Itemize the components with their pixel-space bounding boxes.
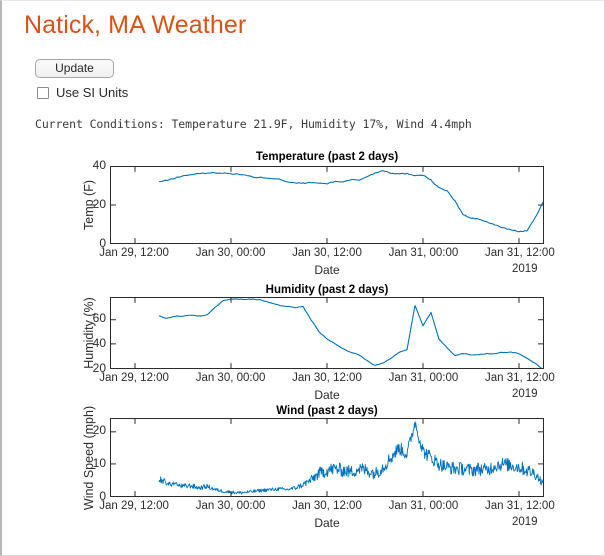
x-tick-label: Jan 31, 12:00 [485, 372, 555, 384]
plot-area-humidity[interactable] [110, 297, 544, 369]
plot-area-wind[interactable] [110, 418, 544, 497]
series-line-temperature [159, 171, 543, 232]
year-label-humidity: 2019 [512, 388, 538, 400]
x-tick-label: Jan 30, 12:00 [292, 500, 362, 512]
x-tick-label: Jan 30, 00:00 [196, 500, 266, 512]
x-tick-label: Jan 31, 12:00 [485, 247, 555, 259]
x-tick-label: Jan 30, 00:00 [196, 247, 266, 259]
x-axis-label-temperature: Date [110, 263, 544, 277]
x-tick-label: Jan 31, 00:00 [389, 372, 459, 384]
x-axis-label-humidity: Date [110, 388, 544, 402]
chart-title-wind: Wind (past 2 days) [110, 405, 544, 417]
x-tick-label: Jan 30, 12:00 [292, 372, 362, 384]
y-tick-label: 20 [76, 197, 106, 211]
y-tick-label: 20 [76, 423, 106, 437]
page-title: Natick, MA Weather [24, 11, 246, 40]
chart-title-temperature: Temperature (past 2 days) [110, 151, 544, 163]
series-line-humidity [159, 299, 543, 368]
chart-title-humidity: Humidity (past 2 days) [110, 284, 544, 296]
year-label-temperature: 2019 [512, 263, 538, 275]
x-tick-label: Jan 29, 12:00 [99, 500, 169, 512]
weather-app-window: Natick, MA Weather Update Use SI Units C… [0, 0, 605, 556]
y-tick-label: 10 [76, 456, 106, 470]
update-button[interactable]: Update [35, 59, 114, 78]
x-tick-label: Jan 30, 12:00 [292, 247, 362, 259]
use-si-units-checkbox-row[interactable]: Use SI Units [37, 85, 128, 100]
plot-area-temperature[interactable] [110, 166, 544, 244]
y-tick-label: 40 [76, 336, 106, 350]
x-tick-label: Jan 29, 12:00 [99, 372, 169, 384]
y-tick-label: 60 [76, 311, 106, 325]
x-tick-label: Jan 30, 00:00 [196, 372, 266, 384]
use-si-units-label: Use SI Units [56, 85, 128, 100]
x-tick-label: Jan 31, 00:00 [389, 247, 459, 259]
series-line-wind [159, 422, 543, 494]
x-axis-label-wind: Date [110, 516, 544, 530]
x-tick-label: Jan 31, 12:00 [485, 500, 555, 512]
current-conditions-text: Current Conditions: Temperature 21.9F, H… [35, 117, 472, 131]
x-tick-label: Jan 31, 00:00 [389, 500, 459, 512]
x-tick-label: Jan 29, 12:00 [99, 247, 169, 259]
y-tick-label: 40 [76, 158, 106, 172]
use-si-units-checkbox[interactable] [37, 87, 49, 99]
year-label-wind: 2019 [512, 516, 538, 528]
